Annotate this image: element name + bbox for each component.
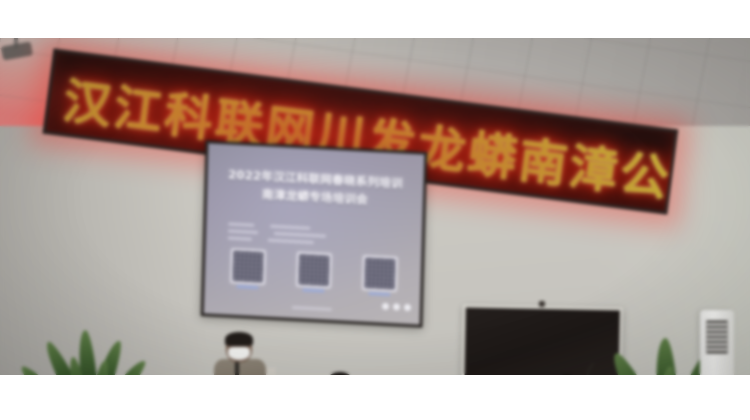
presenter-face-mask: [228, 347, 250, 360]
text-line: [292, 306, 332, 311]
presenter-speaker: [206, 334, 274, 375]
qr-code-block: [230, 249, 265, 290]
pagination-dot: [382, 303, 389, 310]
qr-code-icon: [231, 249, 266, 285]
text-line: [268, 239, 314, 244]
qr-code-icon: [362, 256, 397, 292]
text-line: [274, 232, 326, 238]
potted-plant-left: [36, 326, 146, 375]
letterboxed-photo-frame: 汉江科联网川发龙蟒南漳公司专场培训会 2022年汉江科联网春晓系列培训 南漳龙蟒…: [0, 0, 750, 420]
pagination-dot: [393, 303, 400, 310]
conference-room-photograph: 汉江科联网川发龙蟒南漳公司专场培训会 2022年汉江科联网春晓系列培训 南漳龙蟒…: [0, 38, 750, 375]
presenter-hair: [225, 332, 253, 346]
projection-screen: 2022年汉江科联网春晓系列培训 南漳龙蟒专场培训会: [201, 140, 428, 328]
qr-code-block: [362, 256, 397, 297]
tv-camera-icon: [539, 301, 545, 307]
qr-code-icon: [297, 252, 332, 288]
air-cooler-unit: [700, 310, 734, 375]
slide-pagination-dots: [382, 303, 411, 312]
presenter-lanyard: [235, 361, 239, 375]
text-line: [228, 236, 252, 240]
pagination-dot: [404, 304, 411, 311]
text-line: [228, 223, 254, 227]
qr-code-block: [296, 252, 331, 293]
text-line: [228, 229, 258, 234]
projection-screen-surface: 2022年汉江科联网春晓系列培训 南漳龙蟒专场培训会: [204, 143, 425, 324]
air-cooler-vent: [706, 320, 728, 354]
